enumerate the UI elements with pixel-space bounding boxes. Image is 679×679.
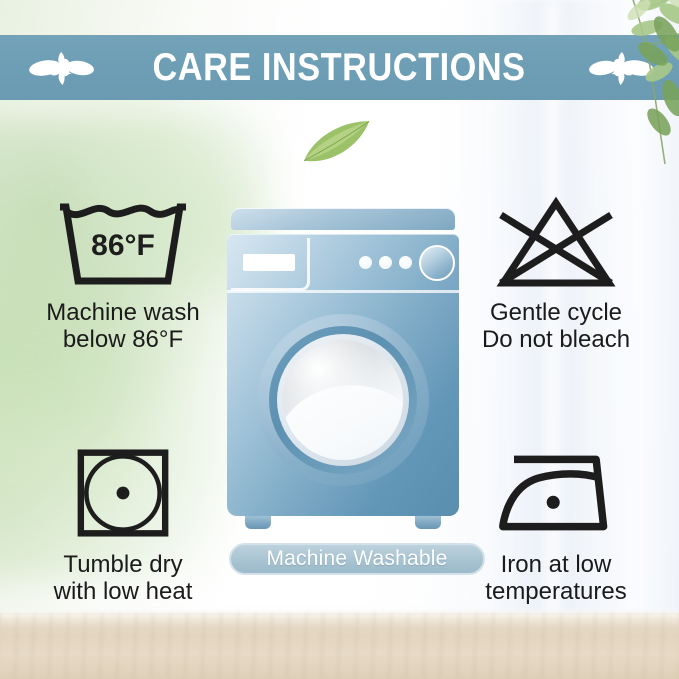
- fleur-de-lis-icon-left: [28, 44, 94, 92]
- care-symbol-label: Gentle cycle Do not bleach: [441, 299, 671, 353]
- wooden-table-grain: [0, 613, 679, 679]
- page-title: CARE INSTRUCTIONS: [153, 48, 526, 87]
- tumble-dry-icon: [8, 440, 238, 545]
- care-symbol-machine-wash: 86°F Machine wash below 86°F: [8, 190, 238, 353]
- machine-top-lip: [231, 208, 455, 230]
- door-glass-highlight: [283, 374, 403, 460]
- wash-tub-icon: 86°F: [8, 190, 238, 295]
- control-button-2: [379, 256, 392, 269]
- control-button-1: [359, 256, 372, 269]
- corner-foliage-decoration: [535, 0, 679, 168]
- care-symbol-iron: Iron at low temperatures: [441, 440, 671, 605]
- door-glass: [283, 340, 403, 460]
- detergent-drawer: [231, 238, 310, 291]
- detergent-drawer-slot: [243, 254, 295, 271]
- care-symbol-gentle-cycle-no-bleach: Gentle cycle Do not bleach: [441, 190, 671, 353]
- washing-machine-illustration: [227, 208, 459, 538]
- machine-body: [227, 234, 459, 516]
- care-symbol-tumble-dry: Tumble dry with low heat: [8, 440, 238, 605]
- care-symbol-label: Iron at low temperatures: [441, 551, 671, 605]
- control-panel-divider: [227, 290, 459, 293]
- care-symbol-label: Tumble dry with low heat: [8, 551, 238, 605]
- wash-temperature-value: 86°F: [91, 229, 155, 262]
- machine-foot-right: [415, 516, 441, 529]
- badge-label: Machine Washable: [266, 547, 447, 571]
- care-symbol-label: Machine wash below 86°F: [8, 299, 238, 353]
- care-instructions-infographic: CARE INSTRUCTIONS: [0, 0, 679, 679]
- iron-icon: [441, 440, 671, 545]
- triangle-crossed-out-icon: [441, 190, 671, 295]
- control-button-3: [399, 256, 412, 269]
- machine-foot-left: [245, 516, 271, 529]
